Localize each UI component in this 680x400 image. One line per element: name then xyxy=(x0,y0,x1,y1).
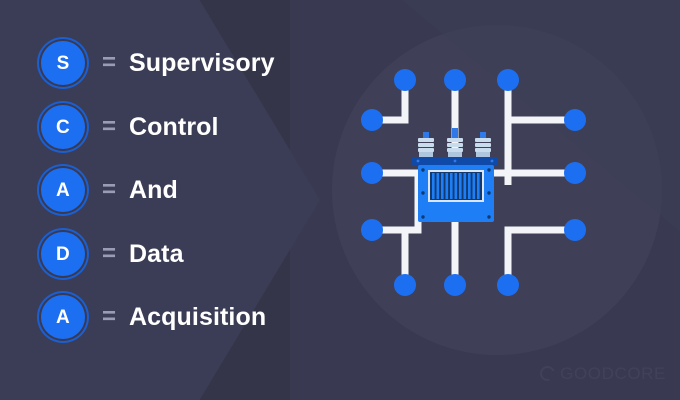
watermark-text: GOODCORE xyxy=(560,365,666,382)
letter-badge-a-2: A xyxy=(41,295,85,339)
terminal-node xyxy=(361,109,383,131)
bushing-right xyxy=(475,132,491,157)
goodcore-watermark: GOODCORE xyxy=(540,365,666,382)
equals-sign: = xyxy=(102,242,116,266)
equals-sign: = xyxy=(102,305,116,329)
terminal-node xyxy=(497,69,519,91)
letter-badge-c: C xyxy=(41,105,85,149)
terminal-node xyxy=(361,219,383,241)
terminal-node xyxy=(564,162,586,184)
legend-item-data: D = Data xyxy=(41,229,184,279)
badge-letter-text: A xyxy=(56,308,70,327)
legend-item-acquisition: A = Acquisition xyxy=(41,292,266,342)
terminal-node xyxy=(444,274,466,296)
terminal-node xyxy=(497,274,519,296)
terminal-node xyxy=(361,162,383,184)
letter-badge-s: S xyxy=(41,41,85,85)
scada-acronym-infographic: S = Supervisory C = Control A = And D = … xyxy=(0,0,680,400)
legend-item-control: C = Control xyxy=(41,102,219,152)
legend-word-data: Data xyxy=(129,242,184,267)
goodcore-logo-mark-icon xyxy=(540,366,555,381)
badge-letter-text: C xyxy=(56,118,70,137)
letter-badge-d: D xyxy=(41,232,85,276)
terminal-node xyxy=(564,219,586,241)
scada-transformer-circuit-illustration xyxy=(360,60,620,320)
equals-sign: = xyxy=(102,178,116,202)
legend-word-supervisory: Supervisory xyxy=(129,51,275,76)
legend-item-supervisory: S = Supervisory xyxy=(41,38,275,88)
terminal-node xyxy=(394,69,416,91)
badge-letter-text: S xyxy=(57,54,70,73)
bushing-left xyxy=(418,132,434,157)
badge-letter-text: D xyxy=(56,245,70,264)
legend-word-control: Control xyxy=(129,115,219,140)
equals-sign: = xyxy=(102,51,116,75)
legend-item-and: A = And xyxy=(41,165,178,215)
equals-sign: = xyxy=(102,115,116,139)
terminal-node xyxy=(564,109,586,131)
legend-word-and: And xyxy=(129,178,178,203)
badge-letter-text: A xyxy=(56,181,70,200)
legend-word-acquisition: Acquisition xyxy=(129,305,266,330)
letter-badge-a-1: A xyxy=(41,168,85,212)
terminal-node xyxy=(444,69,466,91)
terminal-node xyxy=(394,274,416,296)
acronym-legend-list: S = Supervisory C = Control A = And D = … xyxy=(0,0,330,400)
